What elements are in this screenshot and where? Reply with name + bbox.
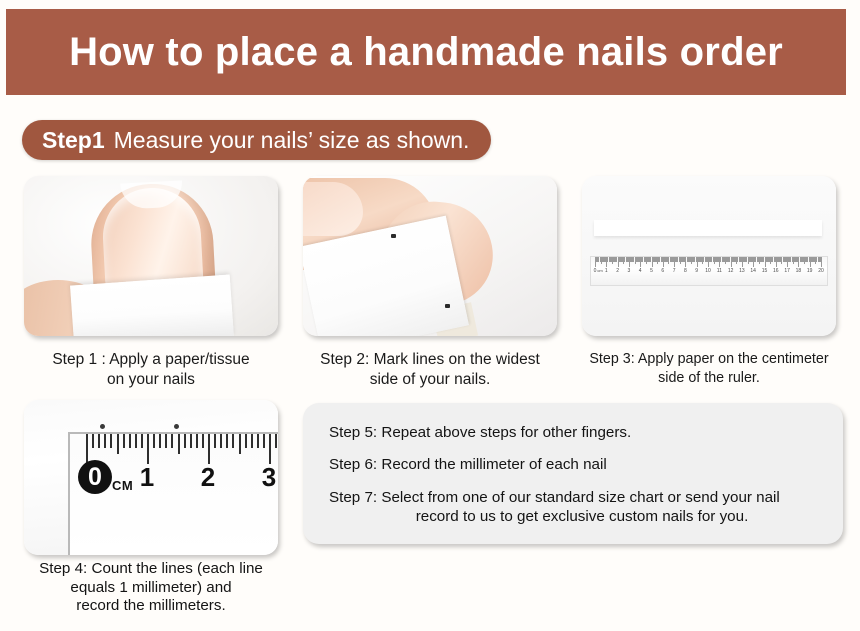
photo-card-step4: 0 CM 123 bbox=[24, 400, 278, 555]
caption-step3-line1: Step 3: Apply paper on the centimeter bbox=[572, 350, 846, 369]
closeup-ruler-photo: 0 CM 123 bbox=[24, 400, 278, 555]
caption-step3-line2: side of the ruler. bbox=[572, 369, 846, 388]
small-ruler-ticks bbox=[591, 257, 828, 268]
ruler-top-dot-left bbox=[100, 424, 105, 429]
small-ruler-shape: 0cm1234567891011121314151617181920 bbox=[590, 256, 828, 286]
thumb-nail-shape bbox=[303, 182, 363, 236]
ruler-top-dot-right bbox=[174, 424, 179, 429]
fingertip-with-paper-strip-photo bbox=[24, 176, 278, 336]
pen-mark-bottom bbox=[445, 304, 450, 308]
caption-step4-line3: record the millimeters. bbox=[10, 597, 292, 616]
steps-5-7-box: Step 5: Repeat above steps for other fin… bbox=[303, 403, 843, 544]
paper-on-ruler-photo: 0cm1234567891011121314151617181920 bbox=[582, 176, 836, 336]
step7-line1: Step 7: Select from one of our standard … bbox=[329, 488, 817, 507]
caption-step4-line2: equals 1 millimeter) and bbox=[10, 579, 292, 598]
caption-step2: Step 2: Mark lines on the widest side of… bbox=[293, 350, 567, 391]
fingers-marking-paper-photo bbox=[303, 176, 557, 336]
pen-mark-top bbox=[391, 234, 396, 238]
photo-card-step3: 0cm1234567891011121314151617181920 bbox=[582, 176, 836, 336]
caption-step1-line1: Step 1 : Apply a paper/tissue bbox=[14, 350, 288, 370]
step7-line2: record to us to get exclusive custom nai… bbox=[329, 507, 817, 526]
caption-step2-line2: side of your nails. bbox=[293, 370, 567, 390]
photo-cards-row: 0cm1234567891011121314151617181920 bbox=[0, 176, 860, 340]
big-ruler-numbers: 123 bbox=[70, 462, 278, 496]
nail-lunula-shape bbox=[120, 180, 183, 209]
caption-step2-line1: Step 2: Mark lines on the widest bbox=[293, 350, 567, 370]
small-ruler-numbers: 0cm1234567891011121314151617181920 bbox=[591, 268, 828, 278]
step7-text: Step 7: Select from one of our standard … bbox=[329, 488, 817, 527]
step6-text: Step 6: Record the millimeter of each na… bbox=[329, 455, 817, 474]
paper-strip-shape bbox=[594, 220, 822, 236]
header-banner: How to place a handmade nails order bbox=[6, 9, 846, 95]
photo-card-step2 bbox=[303, 176, 557, 336]
caption-step4-line1: Step 4: Count the lines (each line bbox=[10, 560, 292, 579]
step1-banner-pill: Step1 Measure your nails’ size as shown. bbox=[22, 120, 491, 160]
caption-step1: Step 1 : Apply a paper/tissue on your na… bbox=[14, 350, 288, 391]
step5-text: Step 5: Repeat above steps for other fin… bbox=[329, 423, 817, 442]
photo-card-step1 bbox=[24, 176, 278, 336]
caption-step1-line2: on your nails bbox=[14, 370, 288, 390]
caption-step4: Step 4: Count the lines (each line equal… bbox=[10, 560, 292, 616]
page-title: How to place a handmade nails order bbox=[69, 30, 783, 75]
step1-instruction: Measure your nails’ size as shown. bbox=[114, 127, 470, 154]
step1-label: Step1 bbox=[42, 127, 105, 154]
paper-strip-shape bbox=[70, 274, 234, 336]
caption-step3: Step 3: Apply paper on the centimeter si… bbox=[572, 350, 846, 388]
